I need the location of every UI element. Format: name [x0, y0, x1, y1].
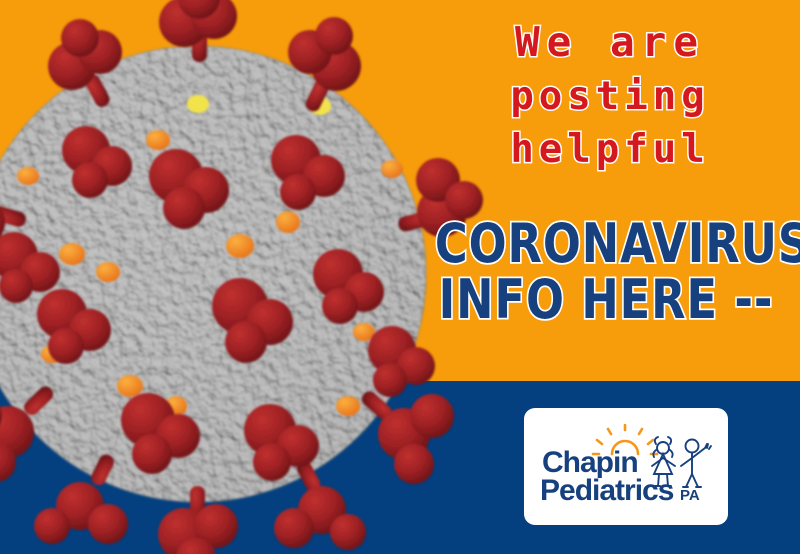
boy-stick-figure: [681, 440, 711, 488]
subheadline-line-2: INFO HERE --: [435, 274, 777, 326]
chapin-pediatrics-logo: Chapin Pediatrics PA: [540, 424, 716, 510]
chapin-pediatrics-logo-card[interactable]: Chapin Pediatrics PA: [524, 408, 728, 525]
logo-suffix: PA: [680, 487, 700, 504]
logo-name-bottom: Pediatrics: [540, 474, 674, 507]
headline-line-3: helpful: [430, 130, 790, 169]
headline-line-1: We are: [430, 22, 790, 63]
headline-block: We are posting helpful: [430, 22, 790, 187]
subheadline-line-1: CORONAVIRUS: [435, 218, 777, 270]
logo-inner: Chapin Pediatrics PA: [524, 408, 728, 525]
headline-line-2: posting: [430, 77, 790, 116]
subheadline-block: CORONAVIRUS INFO HERE --: [420, 218, 792, 326]
coronavirus-info-banner: We are posting helpful CORONAVIRUS INFO …: [0, 0, 800, 554]
